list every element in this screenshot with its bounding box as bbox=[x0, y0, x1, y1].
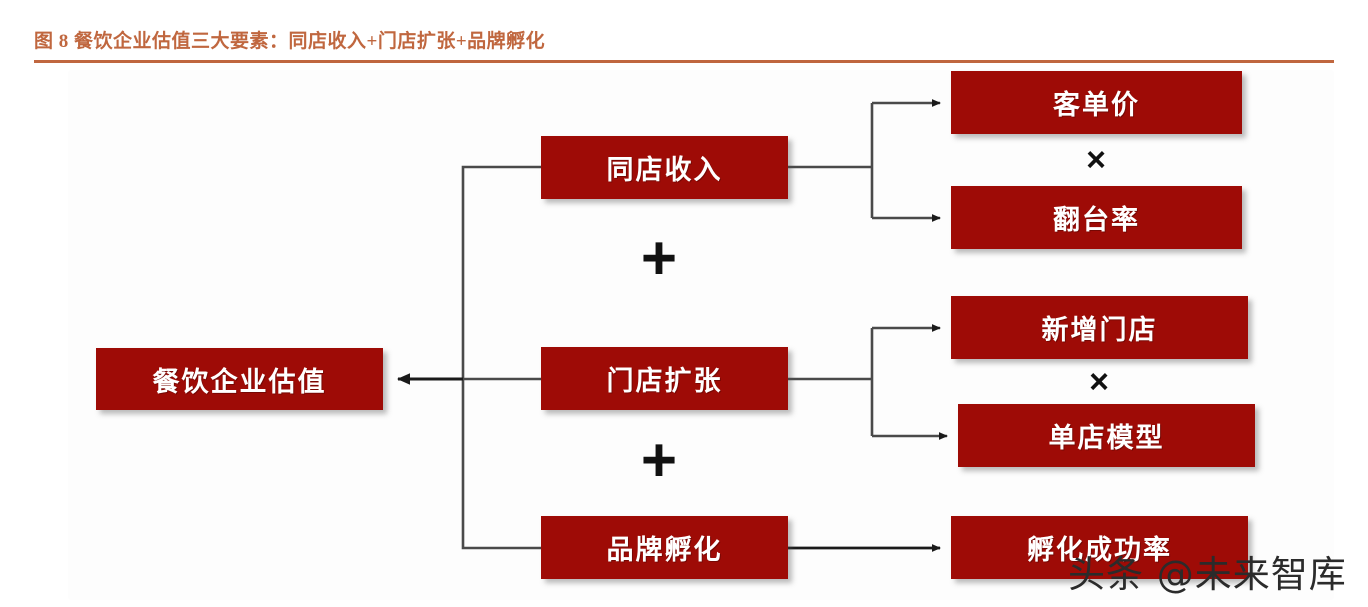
box-single-store-model-label: 单店模型 bbox=[1049, 416, 1165, 455]
box-output-label: 餐饮企业估值 bbox=[153, 360, 327, 399]
box-single-store-model[interactable]: 单店模型 bbox=[958, 404, 1255, 467]
box-store-expansion-label: 门店扩张 bbox=[607, 359, 723, 398]
box-new-stores-label: 新增门店 bbox=[1042, 308, 1158, 347]
figure-title: 图 8 餐饮企业估值三大要素：同店收入+门店扩张+品牌孵化 bbox=[34, 26, 545, 53]
box-new-stores[interactable]: 新增门店 bbox=[951, 296, 1248, 359]
box-table-turnover-label: 翻台率 bbox=[1053, 198, 1140, 237]
box-brand-incubation[interactable]: 品牌孵化 bbox=[541, 516, 788, 579]
diagram-page: 图 8 餐饮企业估值三大要素：同店收入+门店扩张+品牌孵化 bbox=[0, 0, 1368, 607]
operator-plus-1: + bbox=[633, 228, 685, 290]
operator-times-2: × bbox=[1073, 365, 1125, 399]
box-average-ticket[interactable]: 客单价 bbox=[951, 71, 1242, 134]
box-average-ticket-label: 客单价 bbox=[1053, 83, 1140, 122]
operator-plus-2: + bbox=[633, 430, 685, 492]
title-underline bbox=[34, 60, 1334, 63]
box-table-turnover[interactable]: 翻台率 bbox=[951, 186, 1242, 249]
box-brand-incubation-label: 品牌孵化 bbox=[607, 528, 723, 567]
box-same-store-revenue-label: 同店收入 bbox=[607, 148, 723, 187]
box-output[interactable]: 餐饮企业估值 bbox=[96, 348, 383, 410]
operator-times-1: × bbox=[1070, 143, 1122, 177]
box-same-store-revenue[interactable]: 同店收入 bbox=[541, 136, 788, 199]
watermark: 头条 @未来智库 bbox=[1068, 544, 1347, 598]
box-store-expansion[interactable]: 门店扩张 bbox=[541, 347, 788, 410]
